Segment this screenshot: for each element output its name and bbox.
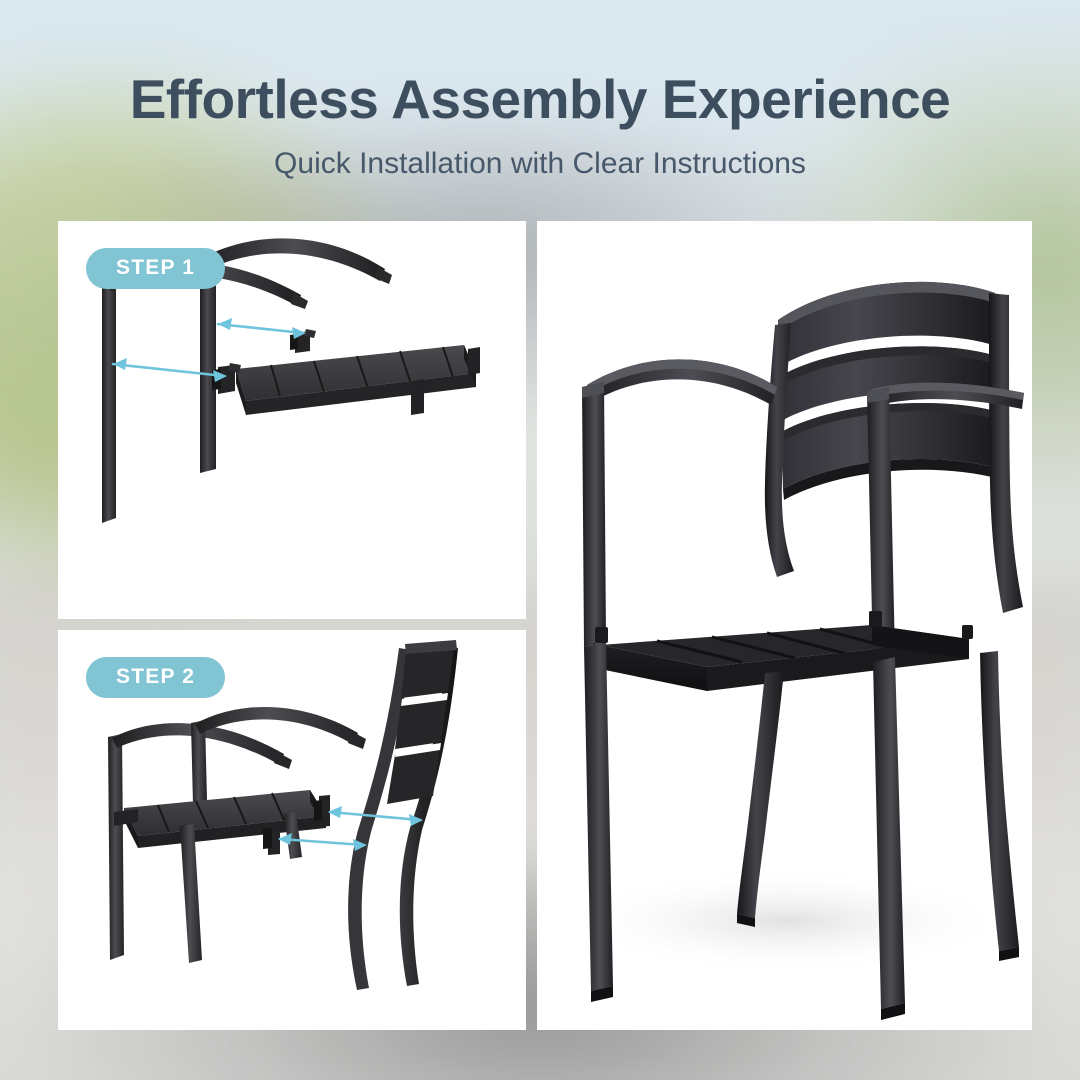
armrest-left — [587, 359, 777, 405]
hero-product-panel — [537, 221, 1032, 1030]
page-title: Effortless Assembly Experience — [0, 72, 1080, 127]
front-arm-post — [191, 720, 207, 804]
leg-post-rear — [102, 276, 116, 523]
leg-front-left — [584, 641, 613, 1002]
infographic-canvas: Effortless Assembly Experience Quick Ins… — [0, 0, 1080, 1080]
back-stile-right — [989, 293, 1023, 613]
seat-frame — [212, 329, 480, 415]
header: Effortless Assembly Experience Quick Ins… — [0, 0, 1080, 181]
page-subtitle: Quick Installation with Clear Instructio… — [0, 147, 1080, 181]
armrest-front-2 — [195, 707, 366, 749]
rear-leg — [108, 734, 124, 960]
step-1-badge: STEP 1 — [86, 248, 225, 289]
step-1-panel: STEP 1 — [58, 221, 526, 619]
step-2-panel: STEP 2 — [58, 630, 526, 1030]
hero-chair-illustration — [537, 221, 1032, 1030]
floor-shadow — [562, 869, 1012, 973]
step-2-badge: STEP 2 — [86, 657, 225, 698]
arm-post-left — [582, 382, 606, 647]
